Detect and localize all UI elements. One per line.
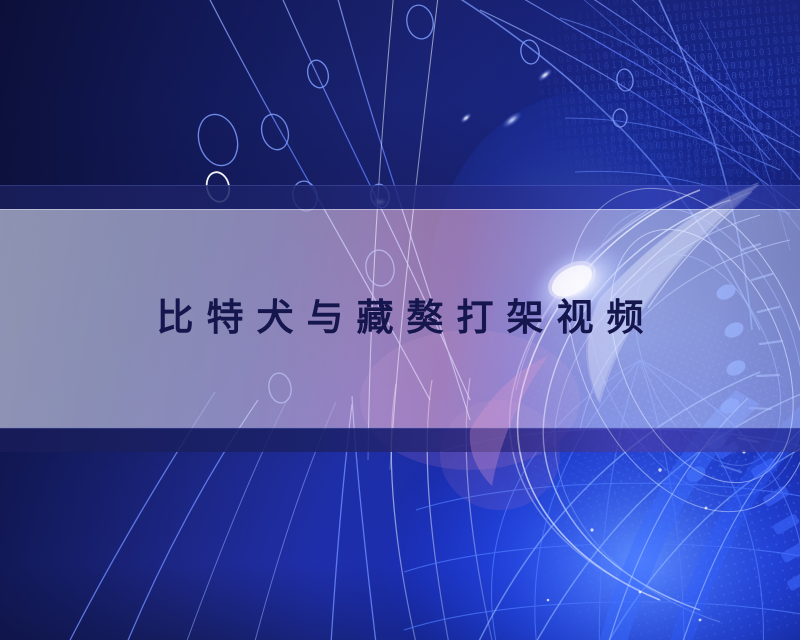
page-title: 比特犬与藏獒打架视频 [144, 296, 657, 340]
title-container: 比特犬与藏獒打架视频 [0, 209, 800, 428]
band-divider-top [0, 185, 800, 209]
article-cover-banner: 010011010110010100101001110010101101001 … [0, 0, 800, 640]
band-divider-bottom [0, 428, 800, 452]
